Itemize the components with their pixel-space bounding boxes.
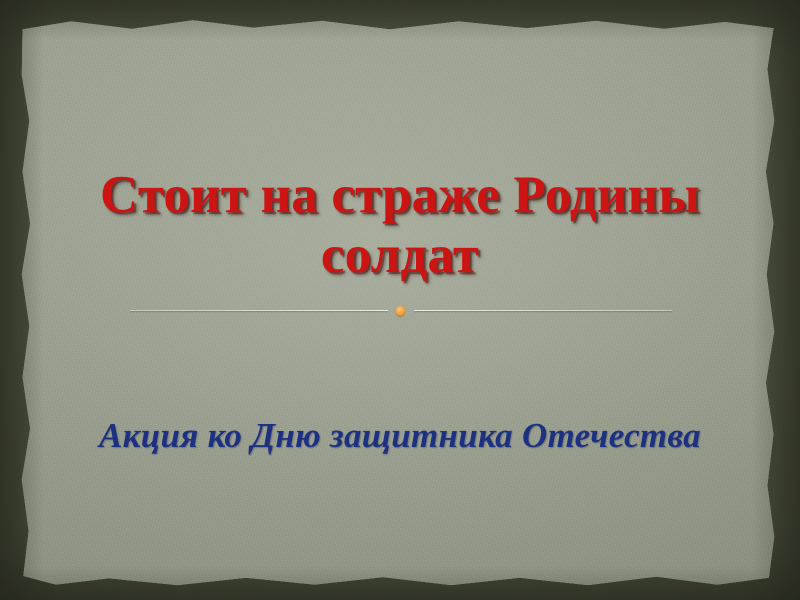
slide-content: Стоит на страже Родины солдат Акция ко Д… bbox=[0, 0, 800, 600]
divider-line-right-icon bbox=[414, 310, 672, 311]
divider-dot-icon bbox=[396, 306, 405, 316]
presentation-slide: Стоит на страже Родины солдат Акция ко Д… bbox=[0, 0, 800, 600]
slide-subtitle: Акция ко Дню защитника Отечества bbox=[30, 416, 770, 456]
decorative-divider bbox=[130, 310, 672, 312]
slide-title: Стоит на страже Родины солдат bbox=[30, 166, 770, 286]
divider-line-left-icon bbox=[130, 310, 388, 311]
